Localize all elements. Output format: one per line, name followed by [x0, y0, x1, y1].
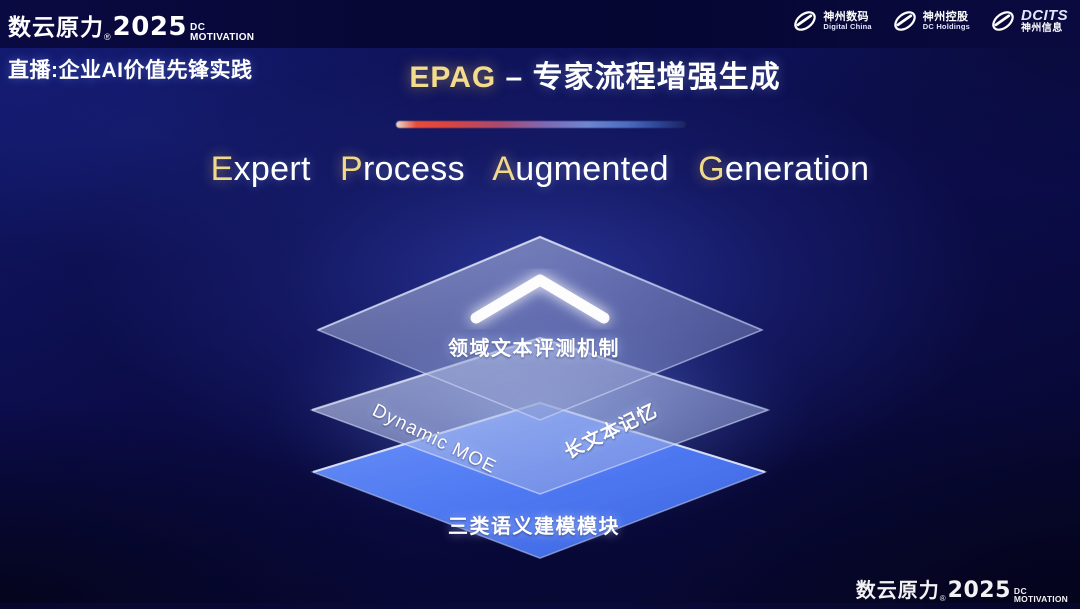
- slide-subtitle: Expert Process Augmented Generation: [0, 150, 1080, 189]
- subtitle-space: [320, 150, 330, 188]
- subtitle-remainder: xpert: [234, 150, 311, 188]
- partner-label: DCITS 神州信息: [1021, 8, 1068, 35]
- headline-chinese: 专家流程增强生成: [533, 61, 781, 94]
- partner-label: 神州控股 DC Holdings: [923, 12, 970, 32]
- subtitle-word-generation: Generation: [698, 150, 869, 188]
- brand-name-cn: 数云原力: [8, 8, 104, 42]
- brand-motivation-label: MOTIVATION: [190, 33, 254, 43]
- brand-name-cn: 数云原力: [856, 574, 940, 603]
- partner-label: 神州数码 Digital China: [823, 12, 871, 32]
- slide-canvas: 领域文本评测机制 Dynamic MOE 长文本记忆 三类语义建模模块 数云原力…: [0, 0, 1080, 609]
- live-session-title: 直播:企业AI价值先锋实践: [8, 54, 253, 84]
- brand-registered-mark: ®: [104, 32, 111, 42]
- brand-dc-motivation: DC MOTIVATION: [190, 23, 254, 42]
- subtitle-initial: G: [698, 150, 725, 188]
- brand-motivation-label: MOTIVATION: [1014, 595, 1068, 603]
- subtitle-word-expert: Expert: [211, 150, 311, 188]
- partner-name-en: DCITS: [1021, 8, 1068, 24]
- subtitle-remainder: ugmented: [515, 150, 669, 188]
- subtitle-initial: P: [340, 150, 363, 188]
- subtitle-initial: E: [211, 150, 234, 188]
- partner-name-en: DC Holdings: [923, 23, 970, 31]
- subtitle-remainder: rocess: [363, 150, 465, 188]
- subtitle-word-augmented: Augmented: [492, 150, 669, 188]
- partner-name-en: Digital China: [823, 23, 871, 31]
- bottom-strip: [0, 603, 1080, 609]
- brand-year: 2025: [948, 578, 1011, 603]
- gradient-divider: [396, 121, 686, 128]
- brand-dc-motivation: DC MOTIVATION: [1014, 587, 1068, 603]
- partner-name-cn: 神州信息: [1021, 24, 1068, 35]
- brand-logo-footer: 数云原力 ® 2025 DC MOTIVATION: [856, 574, 1068, 603]
- headline-acronym: EPAG: [409, 61, 496, 94]
- headline-dash: –: [496, 61, 532, 94]
- brand-logo-header: 数云原力 ® 2025 DC MOTIVATION: [8, 8, 254, 42]
- brand-registered-mark: ®: [940, 594, 946, 603]
- brand-year: 2025: [113, 12, 187, 42]
- partner-logo-dc-holdings: 神州控股 DC Holdings: [892, 8, 970, 34]
- subtitle-initial: A: [492, 150, 515, 188]
- partner-logo-group: 神州数码 Digital China 神州控股 DC Holdings DCIT…: [792, 8, 1068, 35]
- subtitle-space: [679, 150, 689, 188]
- subtitle-remainder: eneration: [725, 150, 869, 188]
- swirl-icon: [892, 8, 918, 34]
- swirl-icon: [990, 8, 1016, 34]
- partner-logo-dcits: DCITS 神州信息: [990, 8, 1068, 35]
- swirl-icon: [792, 8, 818, 34]
- subtitle-space: [475, 150, 485, 188]
- partner-logo-digital-china: 神州数码 Digital China: [792, 8, 871, 34]
- subtitle-word-process: Process: [340, 150, 465, 188]
